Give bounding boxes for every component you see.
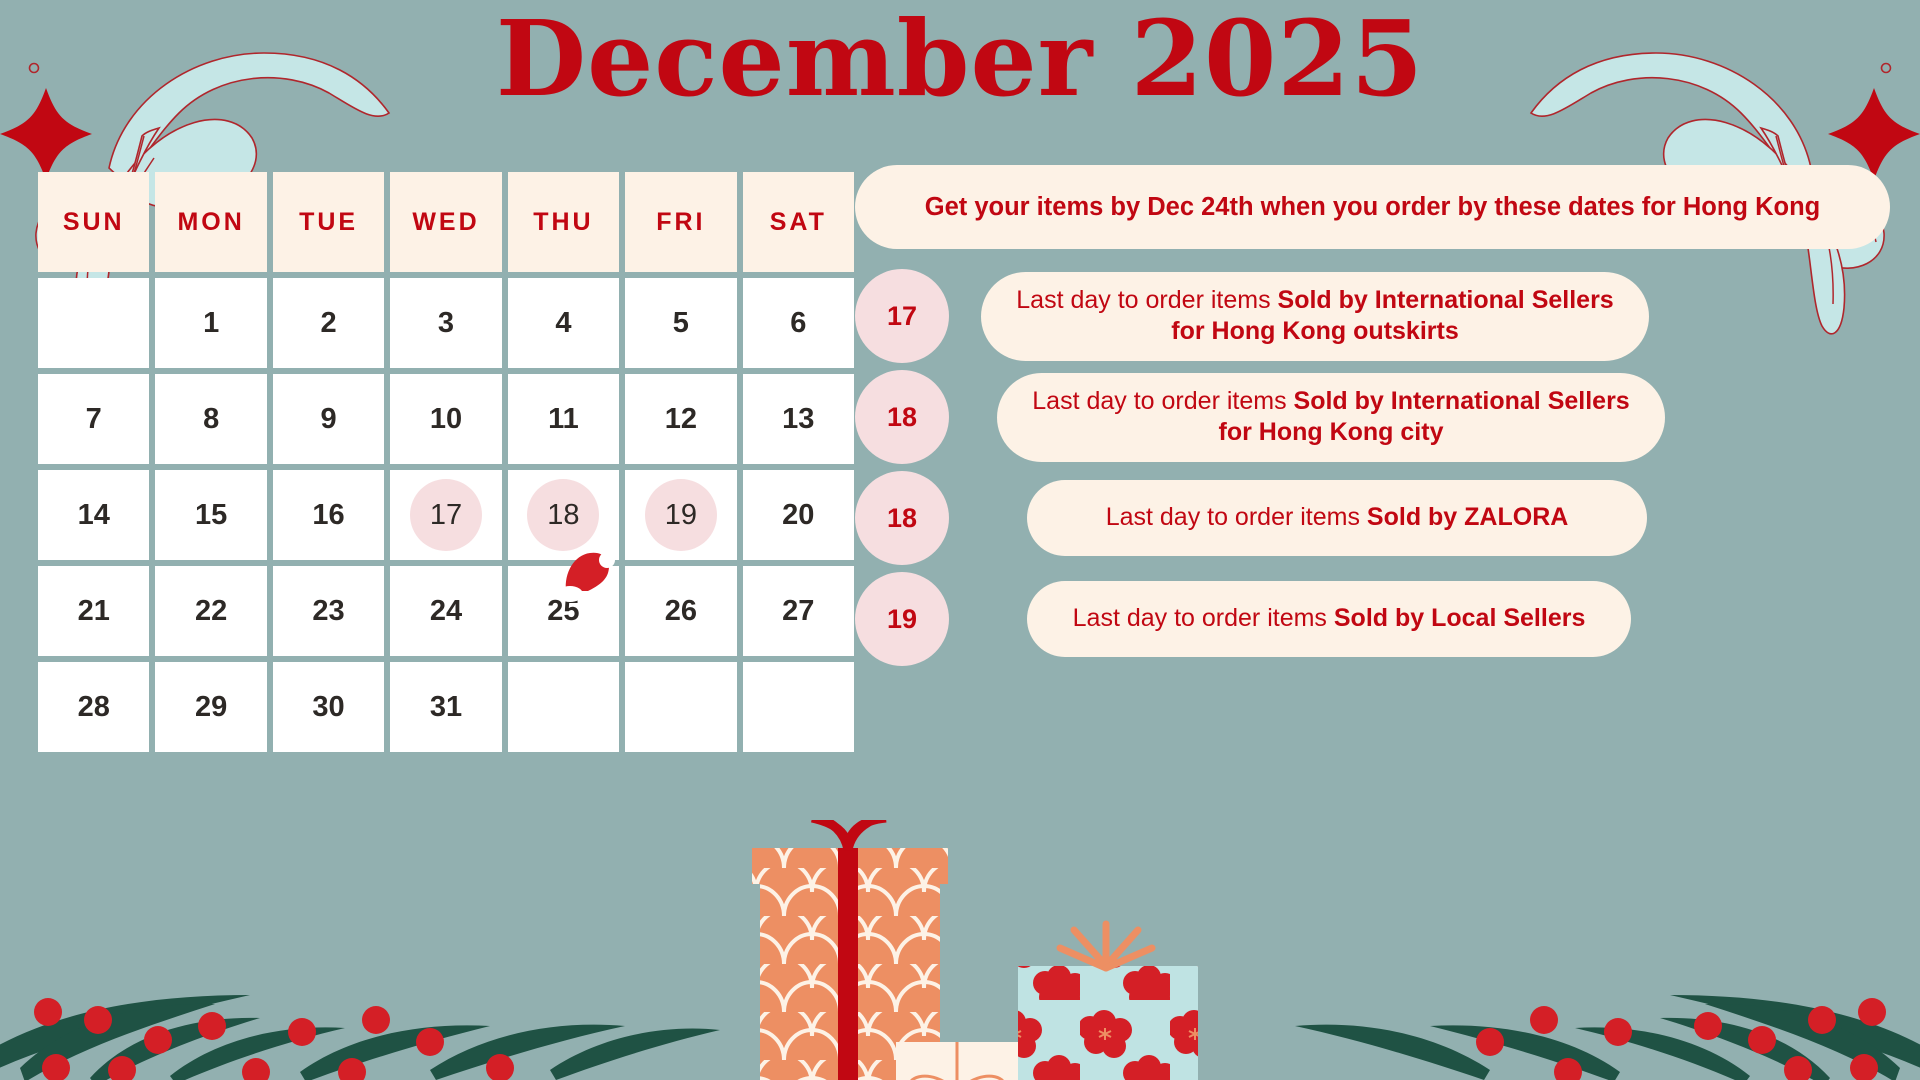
weekday-header-fri: FRI bbox=[625, 172, 736, 272]
day-cell-17[interactable]: 17 bbox=[390, 470, 501, 560]
deadline-card: Last day to order items Sold by Internat… bbox=[997, 373, 1665, 462]
day-number: 23 bbox=[312, 595, 344, 628]
deadline-day-badge: 18 bbox=[855, 471, 949, 565]
day-number: 5 bbox=[673, 307, 689, 340]
day-cell-31[interactable]: 31 bbox=[390, 662, 501, 752]
day-number: 22 bbox=[195, 595, 227, 628]
day-cell-empty bbox=[508, 662, 619, 752]
day-cell-13[interactable]: 13 bbox=[743, 374, 854, 464]
day-number: 18 bbox=[547, 499, 579, 532]
deadline-card-row: 18Last day to order items Sold by ZALORA bbox=[855, 471, 1890, 565]
deadline-card-row: 17Last day to order items Sold by Intern… bbox=[855, 269, 1890, 363]
deadline-card-text: Last day to order items bbox=[1106, 503, 1367, 531]
day-cell-23[interactable]: 23 bbox=[273, 566, 384, 656]
day-cell-empty bbox=[38, 278, 149, 368]
day-number: 25 bbox=[547, 595, 579, 628]
weekday-header-thu: THU bbox=[508, 172, 619, 272]
day-number: 12 bbox=[665, 403, 697, 436]
day-cell-24[interactable]: 24 bbox=[390, 566, 501, 656]
day-cell-1[interactable]: 1 bbox=[155, 278, 266, 368]
day-number: 10 bbox=[430, 403, 462, 436]
bottom-decoration bbox=[0, 820, 1920, 1080]
day-cell-12[interactable]: 12 bbox=[625, 374, 736, 464]
day-cell-4[interactable]: 4 bbox=[508, 278, 619, 368]
day-cell-27[interactable]: 27 bbox=[743, 566, 854, 656]
pine-branch-right bbox=[1295, 995, 1920, 1080]
day-number: 14 bbox=[78, 499, 110, 532]
day-number: 28 bbox=[78, 691, 110, 724]
day-cell-9[interactable]: 9 bbox=[273, 374, 384, 464]
day-number: 30 bbox=[312, 691, 344, 724]
deadline-card: Last day to order items Sold by ZALORA bbox=[1027, 480, 1647, 556]
day-cell-30[interactable]: 30 bbox=[273, 662, 384, 752]
day-cell-16[interactable]: 16 bbox=[273, 470, 384, 560]
page-title: December 2025 bbox=[0, 2, 1920, 116]
calendar-grid: SUNMONTUEWEDTHUFRISAT1234567891011121314… bbox=[38, 172, 854, 752]
gift-box-blue bbox=[1018, 924, 1198, 1080]
pine-branch-left bbox=[0, 995, 720, 1080]
day-cell-7[interactable]: 7 bbox=[38, 374, 149, 464]
weekday-header-sat: SAT bbox=[743, 172, 854, 272]
day-number: 17 bbox=[430, 499, 462, 532]
deadline-card-list: 17Last day to order items Sold by Intern… bbox=[855, 269, 1890, 666]
day-cell-18[interactable]: 18 bbox=[508, 470, 619, 560]
day-number: 16 bbox=[312, 499, 344, 532]
weekday-header-mon: MON bbox=[155, 172, 266, 272]
deadline-card-text: Last day to order items bbox=[1016, 286, 1277, 314]
day-number: 31 bbox=[430, 691, 462, 724]
day-cell-21[interactable]: 21 bbox=[38, 566, 149, 656]
day-cell-15[interactable]: 15 bbox=[155, 470, 266, 560]
deadline-card-text: Last day to order items bbox=[1032, 387, 1293, 415]
day-number: 4 bbox=[555, 307, 571, 340]
weekday-header-tue: TUE bbox=[273, 172, 384, 272]
deadline-day-badge: 17 bbox=[855, 269, 949, 363]
day-cell-5[interactable]: 5 bbox=[625, 278, 736, 368]
weekday-header-sun: SUN bbox=[38, 172, 149, 272]
day-cell-8[interactable]: 8 bbox=[155, 374, 266, 464]
day-number: 19 bbox=[665, 499, 697, 532]
deadline-card-emphasis: Sold by ZALORA bbox=[1367, 503, 1568, 531]
day-cell-22[interactable]: 22 bbox=[155, 566, 266, 656]
deadline-card-row: 19Last day to order items Sold by Local … bbox=[855, 572, 1890, 666]
day-number: 3 bbox=[438, 307, 454, 340]
day-number: 29 bbox=[195, 691, 227, 724]
day-cell-28[interactable]: 28 bbox=[38, 662, 149, 752]
day-number: 2 bbox=[320, 307, 336, 340]
day-cell-14[interactable]: 14 bbox=[38, 470, 149, 560]
berries-right bbox=[1476, 998, 1886, 1080]
day-number: 21 bbox=[78, 595, 110, 628]
day-number: 24 bbox=[430, 595, 462, 628]
deadline-card-emphasis: Sold by Local Sellers bbox=[1334, 604, 1585, 632]
day-number: 15 bbox=[195, 499, 227, 532]
gift-box-cream bbox=[896, 1042, 1018, 1080]
day-cell-3[interactable]: 3 bbox=[390, 278, 501, 368]
shipping-deadlines-panel: Get your items by Dec 24th when you orde… bbox=[855, 165, 1890, 673]
day-number: 20 bbox=[782, 499, 814, 532]
day-cell-2[interactable]: 2 bbox=[273, 278, 384, 368]
berries-left bbox=[34, 998, 514, 1080]
day-cell-20[interactable]: 20 bbox=[743, 470, 854, 560]
weekday-header-wed: WED bbox=[390, 172, 501, 272]
deadline-card-text: Last day to order items bbox=[1073, 604, 1334, 632]
day-cell-6[interactable]: 6 bbox=[743, 278, 854, 368]
day-cell-19[interactable]: 19 bbox=[625, 470, 736, 560]
day-cell-11[interactable]: 11 bbox=[508, 374, 619, 464]
day-cell-25[interactable]: 25 bbox=[508, 566, 619, 656]
day-cell-29[interactable]: 29 bbox=[155, 662, 266, 752]
day-number: 27 bbox=[782, 595, 814, 628]
deadline-day-badge: 19 bbox=[855, 572, 949, 666]
day-cell-10[interactable]: 10 bbox=[390, 374, 501, 464]
deadline-card-row: 18Last day to order items Sold by Intern… bbox=[855, 370, 1890, 464]
panel-banner: Get your items by Dec 24th when you orde… bbox=[855, 165, 1890, 249]
day-number: 26 bbox=[665, 595, 697, 628]
day-number: 8 bbox=[203, 403, 219, 436]
day-cell-empty bbox=[625, 662, 736, 752]
day-cell-26[interactable]: 26 bbox=[625, 566, 736, 656]
deadline-card: Last day to order items Sold by Internat… bbox=[981, 272, 1649, 361]
day-number: 7 bbox=[86, 403, 102, 436]
deadline-day-badge: 18 bbox=[855, 370, 949, 464]
gift-box-coral bbox=[752, 820, 948, 1080]
day-number: 1 bbox=[203, 307, 219, 340]
day-number: 13 bbox=[782, 403, 814, 436]
deadline-card: Last day to order items Sold by Local Se… bbox=[1027, 581, 1631, 657]
day-number: 11 bbox=[548, 403, 579, 436]
day-cell-empty bbox=[743, 662, 854, 752]
day-number: 6 bbox=[790, 307, 806, 340]
day-number: 9 bbox=[320, 403, 336, 436]
